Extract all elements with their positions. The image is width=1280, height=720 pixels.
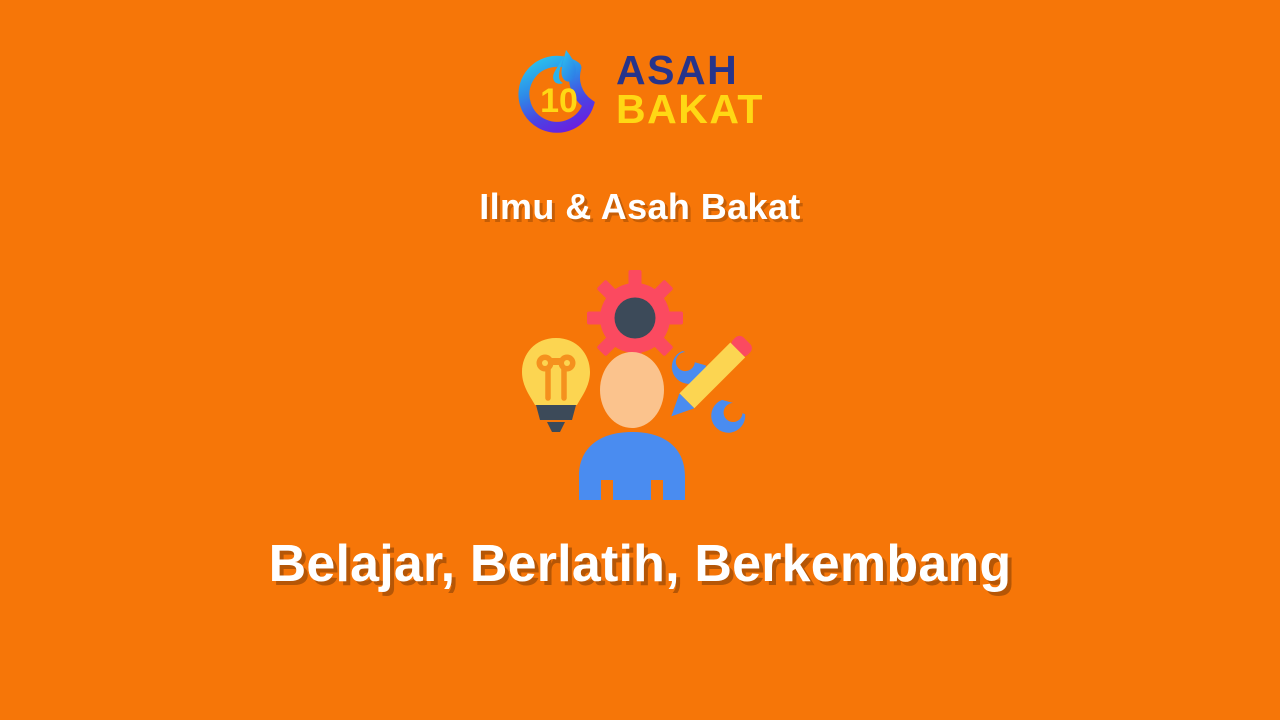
logo-word-bakat: BAKAT (616, 90, 764, 129)
person-body (579, 432, 685, 500)
skills-illustration (510, 260, 770, 500)
logo-wordmark: ASAH BAKAT (616, 51, 764, 130)
page-title: Ilmu & Asah Bakat (479, 186, 801, 228)
flame-ring-10-logo-icon: 10 (516, 42, 602, 138)
logo-lockup: 10 ASAH BAKAT (516, 42, 764, 138)
logo-number-10: 10 (540, 82, 578, 120)
lightbulb-icon (522, 338, 590, 432)
tagline: Belajar, Berlatih, Berkembang (269, 534, 1012, 594)
logo-word-asah: ASAH (616, 51, 764, 90)
illustration-container (510, 260, 770, 500)
slide-canvas: 10 ASAH BAKAT Ilmu & Asah Bakat (0, 0, 1280, 720)
gear-icon (587, 270, 683, 366)
person-icon (579, 352, 685, 500)
person-head (600, 352, 664, 428)
